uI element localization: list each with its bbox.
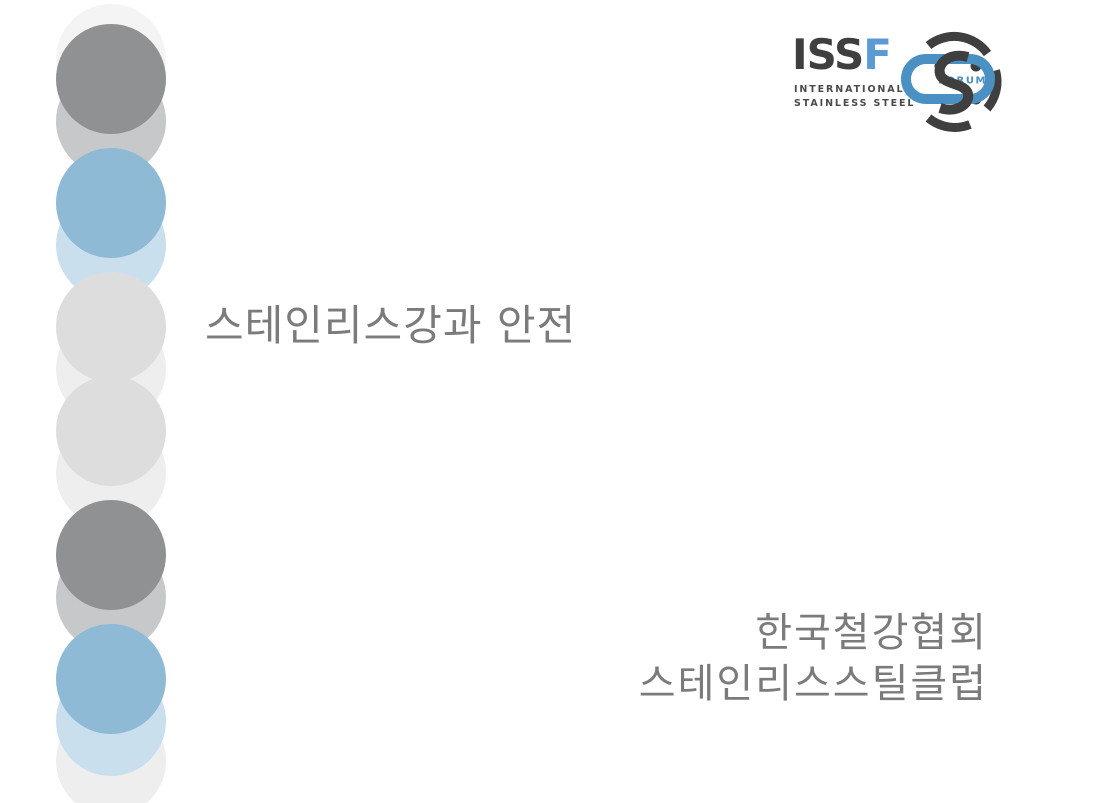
decorative-circle	[56, 666, 166, 776]
issf-wordmark: ISSF	[792, 34, 891, 76]
decorative-circle-column	[0, 0, 200, 803]
decorative-circle	[56, 314, 166, 424]
decorative-circle	[56, 272, 166, 382]
organization-block: 한국철강협회 스테인리스스틸클럽	[639, 608, 988, 710]
decorative-circle	[56, 706, 166, 803]
issf-logo: ISSF INTERNATIONAL STAINLESS STEEL	[792, 26, 1007, 132]
title-text: 스테인리스강과 안전	[205, 300, 845, 353]
decorative-circle	[56, 190, 166, 300]
decorative-circle	[56, 66, 166, 176]
decorative-circle	[56, 418, 166, 528]
decorative-circle	[56, 500, 166, 610]
issf-wordmark-dark: ISS	[792, 30, 863, 79]
page-title: 스테인리스강과 안전	[205, 300, 845, 353]
decorative-circle	[56, 542, 166, 652]
issf-logo-mark-icon: FORUM	[884, 26, 1006, 132]
decorative-circle	[56, 624, 166, 734]
organization-line-1: 한국철강협회	[639, 608, 988, 659]
organization-line-2: 스테인리스스틸클럽	[639, 659, 988, 710]
title-slide: ISSF INTERNATIONAL STAINLESS STEEL	[0, 0, 1096, 803]
decorative-circle	[56, 376, 166, 486]
decorative-circle	[56, 24, 166, 134]
decorative-circle	[56, 148, 166, 258]
decorative-circle	[56, 4, 166, 114]
